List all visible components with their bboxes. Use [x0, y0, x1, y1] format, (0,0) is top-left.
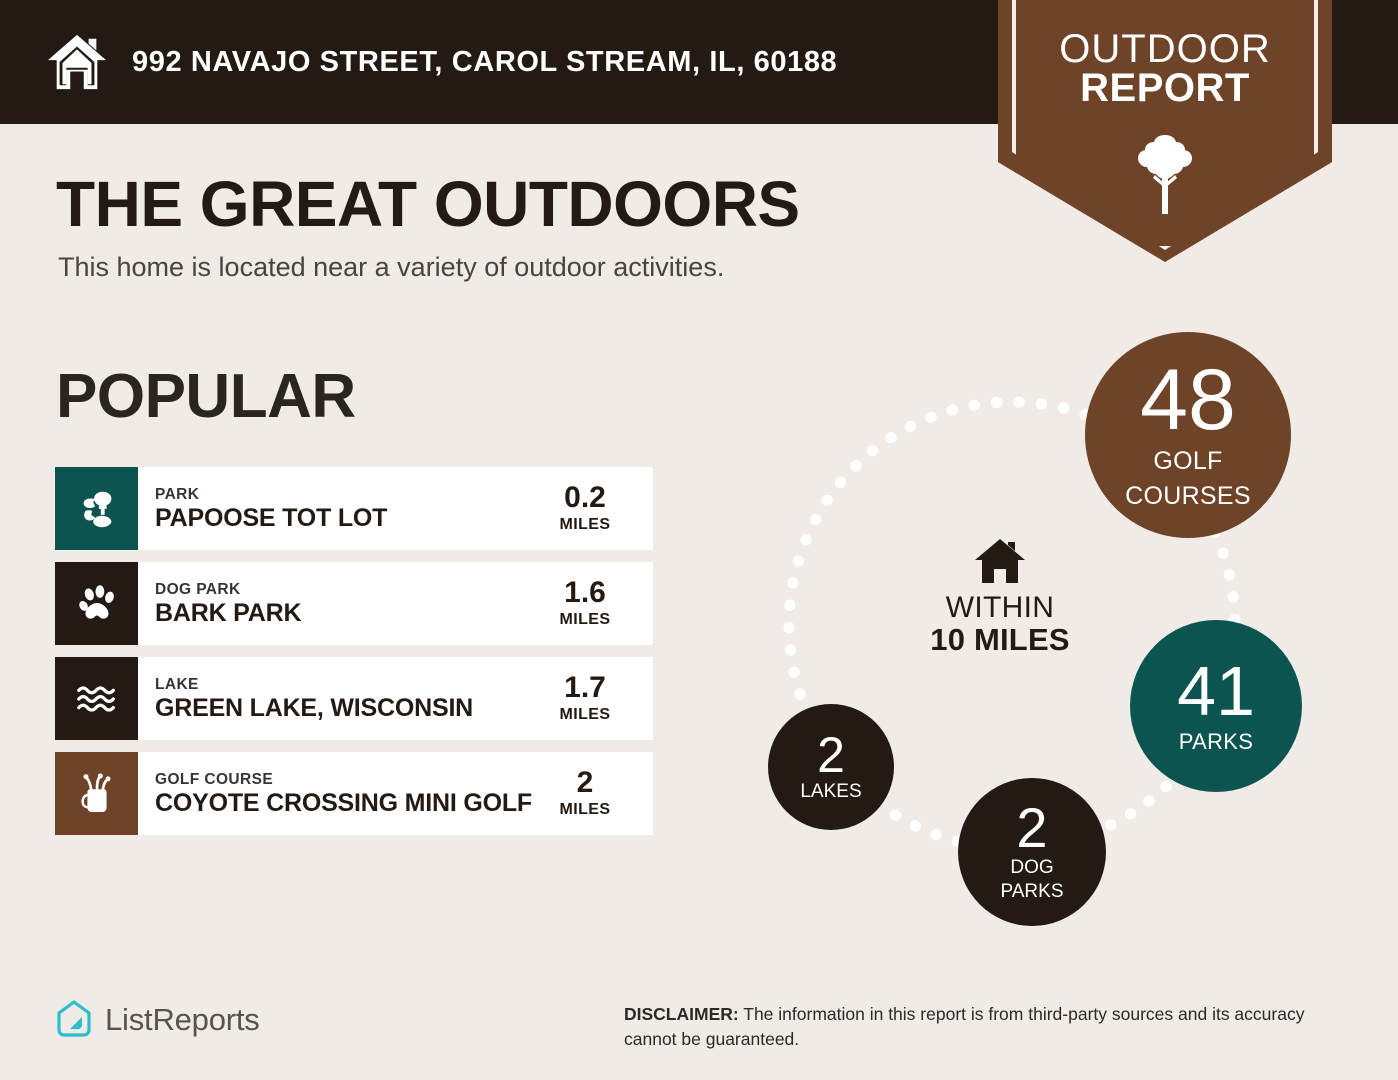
list-item-text: GOLF COURSE COYOTE CROSSING MINI GOLF	[138, 752, 535, 835]
list-item-unit: MILES	[560, 516, 611, 534]
disclaimer: DISCLAIMER: The information in this repo…	[624, 1002, 1346, 1052]
house-icon	[974, 538, 1026, 584]
stat-bubble-lakes[interactable]: 2 LAKES	[768, 704, 894, 830]
list-item-text: PARK PAPOOSE TOT LOT	[138, 467, 535, 550]
diagram-center-label: WITHIN 10 MILES	[910, 538, 1090, 657]
page-title: THE GREAT OUTDOORS	[56, 172, 800, 236]
badge-line-2: REPORT	[998, 69, 1332, 108]
list-item-unit: MILES	[560, 801, 611, 819]
badge-line-1: OUTDOOR	[998, 30, 1332, 69]
list-item-distance: 2	[577, 768, 594, 798]
stat-bubble-dog-parks[interactable]: 2 DOG PARKS	[958, 778, 1106, 926]
stat-label-line-1: DOG	[1010, 858, 1053, 878]
property-address: 992 NAVAJO STREET, CAROL STREAM, IL, 601…	[132, 46, 837, 79]
list-item-category: LAKE	[155, 675, 535, 694]
listreports-logo[interactable]: ListReports	[56, 1000, 260, 1040]
list-item-distance: 1.6	[564, 578, 606, 608]
list-item-text: LAKE GREEN LAKE, WISCONSIN	[138, 657, 535, 740]
stat-label-line-1: GOLF	[1153, 448, 1222, 474]
list-item[interactable]: PARK PAPOOSE TOT LOT 0.2 MILES	[55, 467, 653, 550]
center-line-1: WITHIN	[910, 592, 1090, 624]
center-line-2: 10 MILES	[910, 624, 1090, 657]
water-waves-icon	[74, 676, 120, 722]
stat-bubble-parks[interactable]: 41 PARKS	[1130, 620, 1302, 792]
list-item-icon-tile	[55, 752, 138, 835]
list-item-unit: MILES	[560, 611, 611, 629]
header-content: 992 NAVAJO STREET, CAROL STREAM, IL, 601…	[46, 0, 837, 124]
stat-value: 2	[1016, 802, 1047, 854]
stat-value: 41	[1177, 659, 1255, 723]
list-item-name: BARK PARK	[155, 599, 535, 627]
list-item-category: GOLF COURSE	[155, 770, 535, 789]
list-item[interactable]: LAKE GREEN LAKE, WISCONSIN 1.7 MILES	[55, 657, 653, 740]
stat-bubble-golf-courses[interactable]: 48 GOLF COURSES	[1085, 332, 1291, 538]
list-item-text: DOG PARK BARK PARK	[138, 562, 535, 645]
paw-print-icon	[74, 581, 120, 627]
infographic-page: 992 NAVAJO STREET, CAROL STREAM, IL, 601…	[0, 0, 1398, 1080]
stat-value: 2	[817, 732, 845, 778]
list-item-distance: 0.2	[564, 483, 606, 513]
stat-value: 48	[1140, 361, 1236, 440]
list-item-distance-block: 1.6 MILES	[535, 562, 653, 645]
list-item-distance: 1.7	[564, 673, 606, 703]
stat-label-line-2: COURSES	[1125, 483, 1251, 509]
list-item-distance-block: 0.2 MILES	[535, 467, 653, 550]
list-item-icon-tile	[55, 467, 138, 550]
house-icon	[46, 33, 108, 91]
list-item-unit: MILES	[560, 706, 611, 724]
popular-heading: POPULAR	[56, 366, 356, 428]
list-item[interactable]: GOLF COURSE COYOTE CROSSING MINI GOLF 2 …	[55, 752, 653, 835]
list-item-category: DOG PARK	[155, 580, 535, 599]
park-tree-icon	[74, 486, 120, 532]
within-10-miles-diagram: 48 GOLF COURSES 41 PARKS 2 LAKES 2 DOG P…	[740, 320, 1360, 940]
list-item[interactable]: DOG PARK BARK PARK 1.6 MILES	[55, 562, 653, 645]
tree-icon	[1134, 132, 1196, 216]
listreports-logo-text: ListReports	[105, 1002, 260, 1038]
list-item-icon-tile	[55, 657, 138, 740]
disclaimer-label: DISCLAIMER:	[624, 1004, 739, 1024]
stat-label-line-1: LAKES	[800, 782, 861, 802]
golf-bag-icon	[74, 771, 120, 817]
list-item-name: COYOTE CROSSING MINI GOLF	[155, 789, 535, 817]
list-item-distance-block: 1.7 MILES	[535, 657, 653, 740]
list-item-icon-tile	[55, 562, 138, 645]
badge-text: OUTDOOR REPORT	[998, 30, 1332, 108]
page-subtitle: This home is located near a variety of o…	[58, 252, 724, 283]
list-item-distance-block: 2 MILES	[535, 752, 653, 835]
list-item-name: PAPOOSE TOT LOT	[155, 504, 535, 532]
list-item-category: PARK	[155, 485, 535, 504]
stat-label-line-1: PARKS	[1179, 730, 1253, 753]
popular-list: PARK PAPOOSE TOT LOT 0.2 MILES DOG PARK	[55, 467, 653, 847]
list-item-name: GREEN LAKE, WISCONSIN	[155, 694, 535, 722]
outdoor-report-badge: OUTDOOR REPORT	[998, 0, 1332, 262]
listreports-house-logo-icon	[56, 1000, 92, 1040]
stat-label-line-2: PARKS	[1000, 882, 1063, 902]
